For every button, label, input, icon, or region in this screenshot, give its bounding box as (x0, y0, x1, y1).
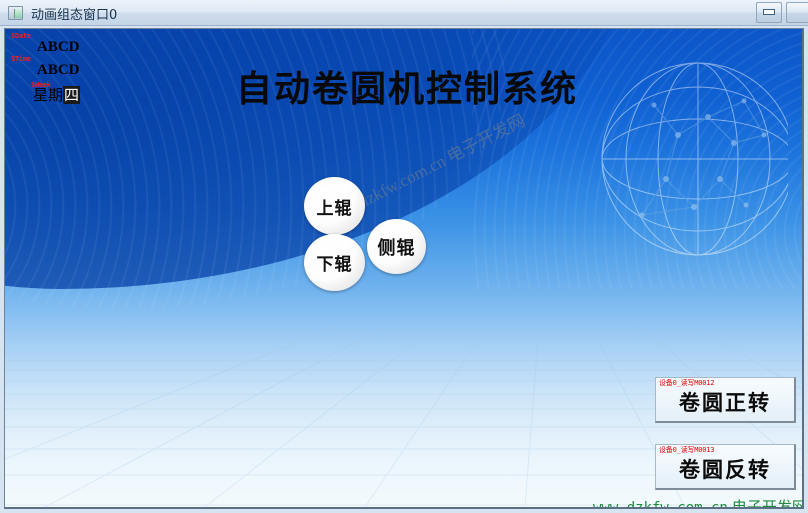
footer-watermark-cn: 电子开发网 (732, 498, 804, 509)
roll-forward-button[interactable]: 设备0_读写M0012 卷圆正转 (655, 377, 796, 423)
minimize-icon (763, 9, 775, 15)
app-window-icon (8, 6, 23, 20)
roll-forward-label: 卷圆正转 (656, 390, 794, 416)
window-title: 动画组态窗口0 (31, 4, 117, 23)
week-value: 星期四 (33, 88, 80, 103)
hmi-canvas: $Date ABCD $Time ABCD $Week 星期四 自动卷圆机控制系… (4, 28, 804, 509)
window-titlebar: 动画组态窗口0 (0, 0, 808, 26)
date-tag: $Date (11, 32, 31, 40)
upper-roller[interactable]: 上辊 (304, 177, 365, 235)
background-swoosh (4, 89, 575, 509)
time-tag: $Time (11, 55, 31, 63)
side-roller-label: 侧辊 (378, 234, 416, 260)
roll-reverse-tag: 设备0_读写M0013 (659, 446, 714, 455)
side-roller[interactable]: 侧辊 (367, 219, 426, 274)
lower-roller[interactable]: 下辊 (304, 234, 365, 291)
time-value: ABCD (37, 63, 80, 78)
roll-reverse-button[interactable]: 设备0_读写M0013 卷圆反转 (655, 444, 796, 490)
week-value-text: 星期 (33, 86, 63, 104)
page-title: 自动卷圆机控制系统 (227, 69, 587, 111)
week-value-highlight: 四 (63, 86, 80, 104)
globe-graphic (558, 39, 788, 319)
date-value: ABCD (37, 40, 80, 55)
roll-forward-tag: 设备0_读写M0012 (659, 379, 714, 388)
background-arcs-right (472, 28, 804, 289)
upper-roller-label: 上辊 (317, 194, 353, 219)
footer-watermark: www.dzkfw.com.cn电子开发网 (593, 499, 804, 509)
footer-watermark-url: www.dzkfw.com.cn (593, 500, 728, 509)
application-window: 动画组态窗口0 (0, 0, 808, 513)
roll-reverse-label: 卷圆反转 (656, 457, 794, 483)
maximize-button[interactable] (786, 2, 808, 23)
lower-roller-label: 下辊 (317, 250, 353, 275)
minimize-button[interactable] (756, 2, 782, 23)
